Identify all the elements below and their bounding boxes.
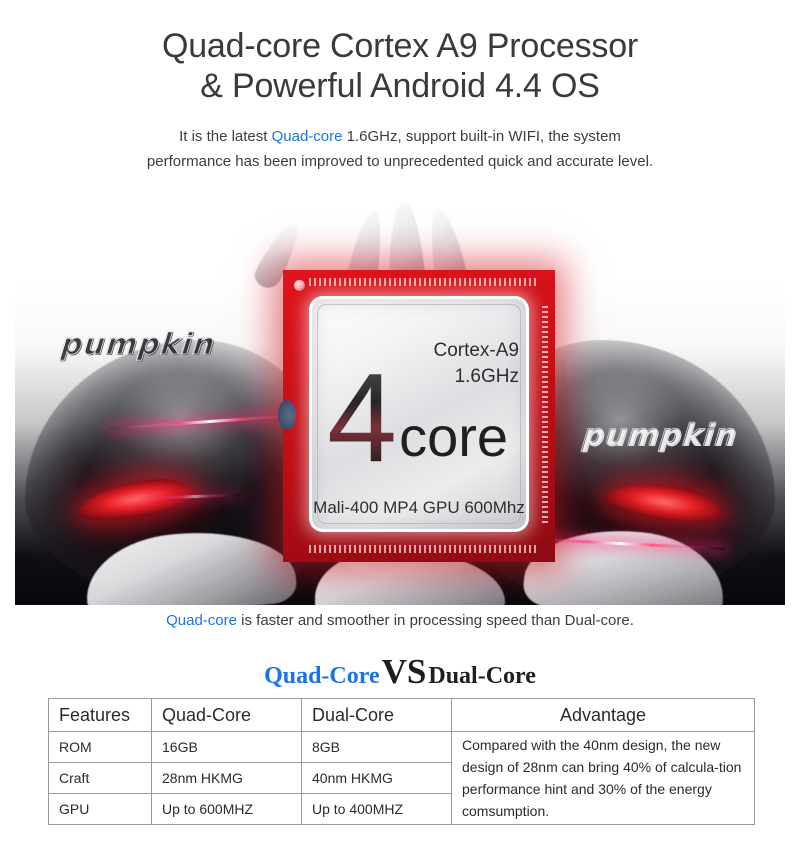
cell-quad-value: 28nm HKMG xyxy=(152,763,302,794)
cell-advantage-text: Compared with the 40nm design, the new d… xyxy=(452,732,755,825)
column-header-features: Features xyxy=(49,699,152,732)
cell-feature-name: ROM xyxy=(49,732,152,763)
cell-dual-value: 40nm HKMG xyxy=(302,763,452,794)
cell-dual-value: 8GB xyxy=(302,732,452,763)
cell-feature-name: GPU xyxy=(49,794,152,825)
chip-label-group: Cortex-A9 1.6GHz 4 core Mali-400 MP4 GPU… xyxy=(283,270,555,562)
chip-core-word: core xyxy=(399,408,508,466)
page-subtitle: It is the latest Quad-core 1.6GHz, suppo… xyxy=(0,106,800,174)
page-title-line-1: Quad-core Cortex A9 Processor xyxy=(0,26,800,66)
chip-model-name: Cortex-A9 xyxy=(433,338,519,364)
hero-artwork: Cortex-A9 1.6GHz 4 core Mali-400 MP4 GPU… xyxy=(15,190,785,605)
page-title: Quad-core Cortex A9 Processor & Powerful… xyxy=(0,0,800,106)
cell-quad-value: 16GB xyxy=(152,732,302,763)
subtitle-text-post: 1.6GHz, support built-in WIFI, the syste… xyxy=(342,128,620,145)
brand-watermark-top: pumpkin xyxy=(581,418,739,453)
chip-gpu-label: Mali-400 MP4 GPU 600Mhz xyxy=(283,498,555,518)
cell-quad-value: Up to 600MHZ xyxy=(152,794,302,825)
column-header-dual-core: Dual-Core xyxy=(302,699,452,732)
page-header: Quad-core Cortex A9 Processor & Powerful… xyxy=(0,0,800,174)
subtitle-text-pre: It is the latest xyxy=(179,128,272,145)
column-header-advantage: Advantage xyxy=(452,699,755,732)
page-subtitle-line-1: It is the latest Quad-core 1.6GHz, suppo… xyxy=(0,124,800,149)
chip-core-count-label: 4 core xyxy=(327,366,508,470)
vs-heading-right: Dual-Core xyxy=(428,663,536,689)
hero-tagline: Quad-core is faster and smoother in proc… xyxy=(0,612,800,629)
page-subtitle-line-2: performance has been improved to unprece… xyxy=(0,149,800,174)
cpu-chip-graphic: Cortex-A9 1.6GHz 4 core Mali-400 MP4 GPU… xyxy=(283,270,555,562)
vs-heading-middle: VS xyxy=(382,652,427,691)
comparison-table: Features Quad-Core Dual-Core Advantage R… xyxy=(48,698,755,825)
subtitle-accent-quad-core: Quad-core xyxy=(272,128,343,145)
brand-watermark-bottom: pumpkin xyxy=(59,327,217,362)
vs-heading-left: Quad-Core xyxy=(264,663,380,689)
column-header-quad-core: Quad-Core xyxy=(152,699,302,732)
tagline-rest: is faster and smoother in processing spe… xyxy=(237,612,634,629)
cell-dual-value: Up to 400MHZ xyxy=(302,794,452,825)
vs-heading: Quad-CoreVSDual-Core xyxy=(0,652,800,692)
table-row: ROM 16GB 8GB Compared with the 40nm desi… xyxy=(49,732,755,763)
page-title-line-2: & Powerful Android 4.4 OS xyxy=(0,66,800,106)
cell-feature-name: Craft xyxy=(49,763,152,794)
chip-core-number: 4 xyxy=(327,366,397,470)
table-header-row: Features Quad-Core Dual-Core Advantage xyxy=(49,699,755,732)
tagline-accent-quad-core: Quad-core xyxy=(166,612,237,629)
